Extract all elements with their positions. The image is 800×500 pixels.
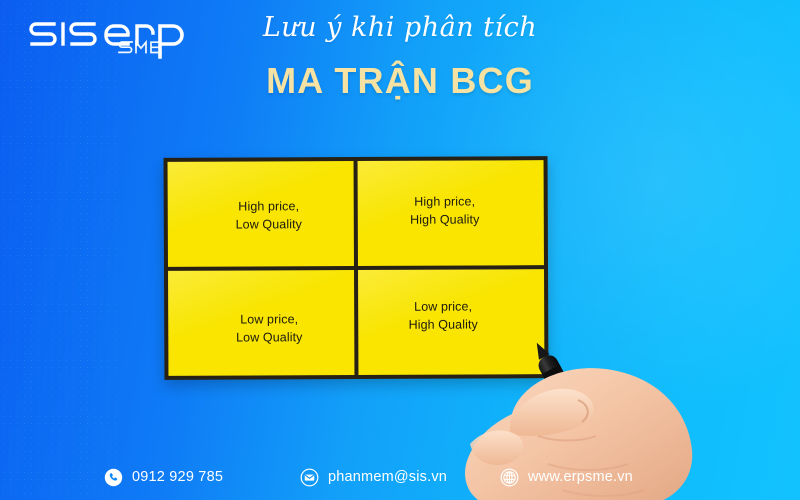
matrix-cell-bottom-right: Low price, High Quality bbox=[358, 269, 544, 375]
globe-icon bbox=[500, 468, 519, 487]
phone-icon bbox=[104, 468, 123, 487]
index-finger bbox=[510, 389, 594, 436]
matrix-cell-label: Low price, Low Quality bbox=[236, 311, 303, 347]
footer-email-label: phanmem@sis.vn bbox=[328, 469, 447, 485]
footer-email[interactable]: phanmem@sis.vn bbox=[300, 468, 500, 487]
footer-phone[interactable]: 0912 929 785 bbox=[104, 468, 300, 487]
matrix-cell-label: High price, Low Quality bbox=[235, 198, 302, 234]
footer-website-label: www.erpsme.vn bbox=[528, 469, 633, 485]
email-icon bbox=[300, 468, 319, 487]
bcg-matrix: High price, Low Quality High price, High… bbox=[164, 156, 549, 380]
matrix-cell-top-right: High price, High Quality bbox=[358, 160, 544, 266]
matrix-cell-label: High price, High Quality bbox=[410, 193, 479, 229]
matrix-cell-bottom-left: Low price, Low Quality bbox=[168, 270, 354, 376]
page-subtitle-script: Lưu ý khi phân tích bbox=[0, 12, 800, 43]
matrix-cell-label: Low price, High Quality bbox=[408, 298, 477, 334]
footer-website[interactable]: www.erpsme.vn bbox=[500, 468, 633, 487]
matrix-cell-top-left: High price, Low Quality bbox=[168, 161, 354, 267]
footer-contact-bar: 0912 929 785 phanmem@sis.vn www.erpsme.v… bbox=[0, 454, 800, 500]
page-title: MA TRẬN BCG bbox=[0, 60, 800, 102]
poster-canvas: Lưu ý khi phân tích MA TRẬN BCG High pri… bbox=[0, 0, 800, 500]
footer-phone-label: 0912 929 785 bbox=[132, 469, 223, 485]
